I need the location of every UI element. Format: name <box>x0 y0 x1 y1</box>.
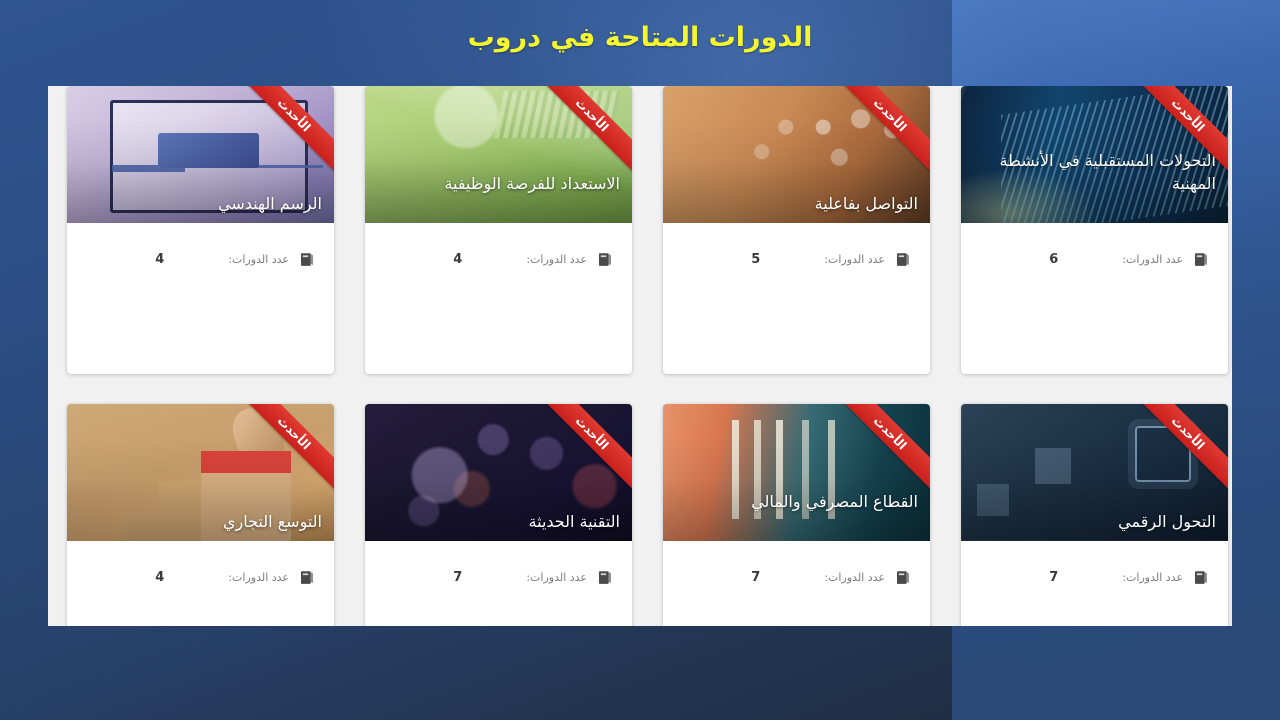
screen-root: الدورات المتاحة في دروب التحولات المستقب… <box>0 0 1280 720</box>
course-card-title: التواصل بفاعلية <box>675 192 918 215</box>
course-card-body: عدد الدورات: 7 <box>663 541 930 626</box>
course-card-title: التوسع التجاري <box>79 510 322 533</box>
course-card-title: الاستعداد للفرصة الوظيفية <box>377 172 620 195</box>
course-count-label: عدد الدورات: <box>228 571 289 584</box>
course-card-media: التقنية الحديثة الأحدث <box>365 404 632 541</box>
book-icon <box>1193 569 1210 586</box>
course-count-label: عدد الدورات: <box>228 253 289 266</box>
course-count-row: عدد الدورات: 5 <box>681 251 912 268</box>
course-count-row: عدد الدورات: 6 <box>979 251 1210 268</box>
course-card-4[interactable]: الرسم الهندسي الأحدث عدد الدورات: 4 <box>67 86 334 374</box>
course-count-value: 7 <box>1049 570 1058 585</box>
course-count-row: عدد الدورات: 7 <box>979 569 1210 586</box>
course-card-media: التواصل بفاعلية الأحدث <box>663 86 930 223</box>
course-card-media: الرسم الهندسي الأحدث <box>67 86 334 223</box>
book-icon <box>597 251 614 268</box>
course-count-value: 4 <box>453 252 462 267</box>
book-icon <box>299 251 316 268</box>
course-card-body: عدد الدورات: 5 <box>663 223 930 374</box>
content-panel: التحولات المستقبلية في الأنشطة المهنية ا… <box>48 86 1232 626</box>
course-card-body: عدد الدورات: 7 <box>961 541 1228 626</box>
course-card-title: الرسم الهندسي <box>79 192 322 215</box>
course-card-body: عدد الدورات: 4 <box>365 223 632 374</box>
course-card-body: عدد الدورات: 4 <box>67 223 334 374</box>
course-card-7[interactable]: التقنية الحديثة الأحدث عدد الدورات: 7 <box>365 404 632 626</box>
course-card-5[interactable]: التحول الرقمي الأحدث عدد الدورات: 7 <box>961 404 1228 626</box>
course-count-value: 4 <box>155 252 164 267</box>
course-card-title: التقنية الحديثة <box>377 510 620 533</box>
course-card-media: التحولات المستقبلية في الأنشطة المهنية ا… <box>961 86 1228 223</box>
course-count-value: 7 <box>453 570 462 585</box>
course-count-row: عدد الدورات: 4 <box>85 569 316 586</box>
course-cards-grid: التحولات المستقبلية في الأنشطة المهنية ا… <box>48 86 1232 626</box>
course-card-6[interactable]: القطاع المصرفي والمالي الأحدث عدد الدورا… <box>663 404 930 626</box>
course-card-media: التوسع التجاري الأحدث <box>67 404 334 541</box>
book-icon <box>299 569 316 586</box>
media-scrim <box>365 86 632 223</box>
course-card-body: عدد الدورات: 7 <box>365 541 632 626</box>
course-card-title: القطاع المصرفي والمالي <box>675 490 918 513</box>
page-title: الدورات المتاحة في دروب <box>0 22 1280 53</box>
course-count-row: عدد الدورات: 7 <box>681 569 912 586</box>
course-card-title: التحول الرقمي <box>973 510 1216 533</box>
book-icon <box>895 569 912 586</box>
course-count-label: عدد الدورات: <box>1122 253 1183 266</box>
course-card-title: التحولات المستقبلية في الأنشطة المهنية <box>973 149 1216 195</box>
course-card-media: التحول الرقمي الأحدث <box>961 404 1228 541</box>
course-count-value: 5 <box>751 252 760 267</box>
course-card-3[interactable]: الاستعداد للفرصة الوظيفية الأحدث عدد الد… <box>365 86 632 374</box>
course-count-row: عدد الدورات: 7 <box>383 569 614 586</box>
course-count-value: 4 <box>155 570 164 585</box>
course-card-1[interactable]: التحولات المستقبلية في الأنشطة المهنية ا… <box>961 86 1228 374</box>
book-icon <box>1193 251 1210 268</box>
media-scrim <box>663 404 930 541</box>
course-card-media: الاستعداد للفرصة الوظيفية الأحدث <box>365 86 632 223</box>
course-count-row: عدد الدورات: 4 <box>383 251 614 268</box>
book-icon <box>597 569 614 586</box>
course-count-label: عدد الدورات: <box>1122 571 1183 584</box>
book-icon <box>895 251 912 268</box>
course-count-label: عدد الدورات: <box>824 253 885 266</box>
course-count-label: عدد الدورات: <box>526 571 587 584</box>
course-card-8[interactable]: التوسع التجاري الأحدث عدد الدورات: 4 <box>67 404 334 626</box>
course-count-label: عدد الدورات: <box>824 571 885 584</box>
course-card-2[interactable]: التواصل بفاعلية الأحدث عدد الدورات: 5 <box>663 86 930 374</box>
course-card-media: القطاع المصرفي والمالي الأحدث <box>663 404 930 541</box>
course-card-body: عدد الدورات: 4 <box>67 541 334 626</box>
course-count-row: عدد الدورات: 4 <box>85 251 316 268</box>
course-count-value: 6 <box>1049 252 1058 267</box>
course-card-body: عدد الدورات: 6 <box>961 223 1228 374</box>
course-count-label: عدد الدورات: <box>526 253 587 266</box>
course-count-value: 7 <box>751 570 760 585</box>
